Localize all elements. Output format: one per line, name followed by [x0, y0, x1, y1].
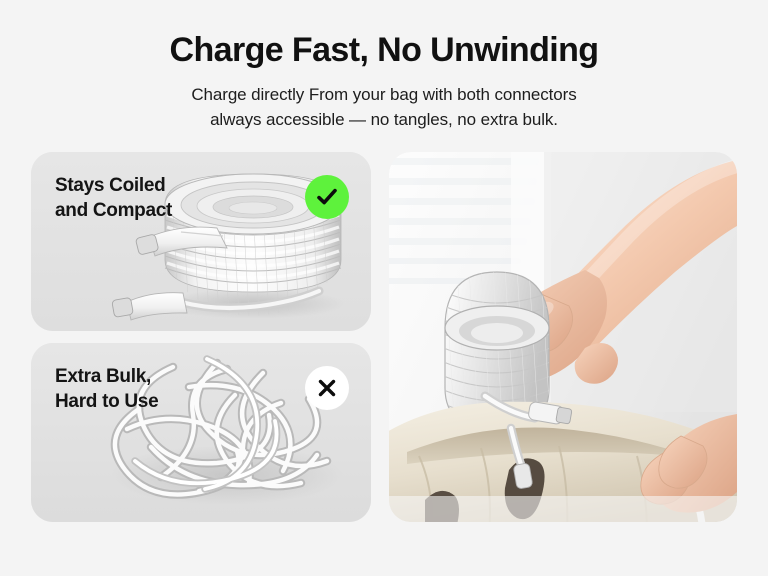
infographic-page: Charge Fast, No Unwinding Charge directl… [0, 0, 768, 576]
check-icon [314, 184, 340, 210]
subtitle-line-2: always accessible — no tangles, no extra… [0, 107, 768, 132]
card-good-line-1: Stays Coiled [55, 173, 172, 198]
lifestyle-photo [389, 152, 737, 522]
card-label-good: Stays Coiled and Compact [55, 173, 172, 223]
card-label-bad: Extra Bulk, Hard to Use [55, 364, 158, 414]
cross-icon [316, 377, 338, 399]
page-subtitle: Charge directly From your bag with both … [0, 82, 768, 132]
check-badge [305, 175, 349, 219]
cross-badge [305, 366, 349, 410]
subtitle-line-1: Charge directly From your bag with both … [0, 82, 768, 107]
card-bad-line-2: Hard to Use [55, 389, 158, 414]
header: Charge Fast, No Unwinding Charge directl… [0, 28, 768, 132]
content-area: Stays Coiled and Compact [31, 152, 737, 522]
card-bad-line-1: Extra Bulk, [55, 364, 158, 389]
comparison-card-good: Stays Coiled and Compact [31, 152, 371, 331]
page-title: Charge Fast, No Unwinding [0, 28, 768, 72]
comparison-card-bad: Extra Bulk, Hard to Use [31, 343, 371, 522]
card-good-line-2: and Compact [55, 198, 172, 223]
comparison-column: Stays Coiled and Compact [31, 152, 371, 522]
